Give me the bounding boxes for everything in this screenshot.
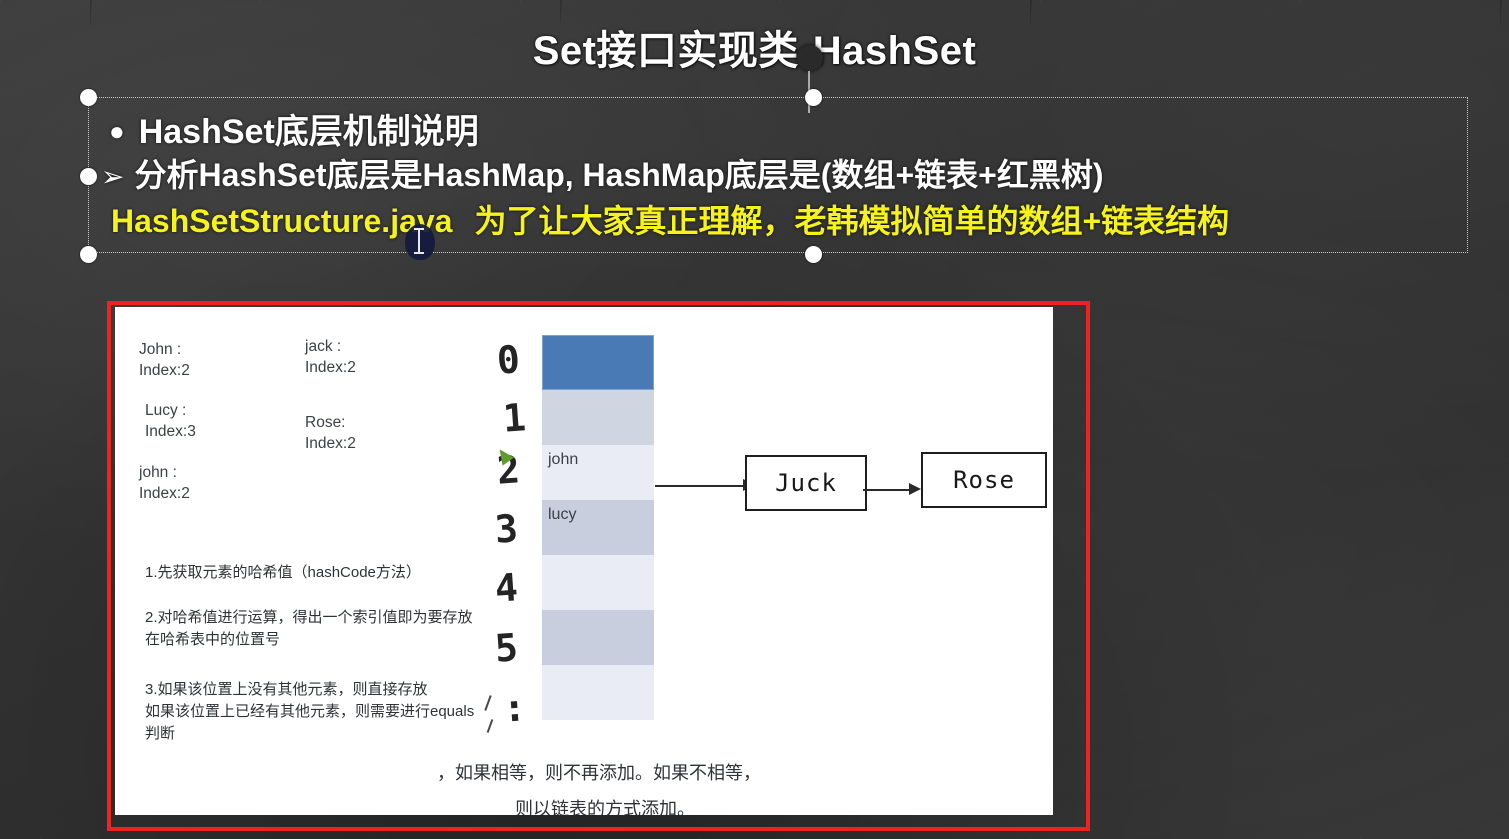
array-index-0: 0: [496, 340, 521, 380]
array-cell-1[interactable]: [542, 390, 654, 445]
entry-john-lower: john : Index:2: [139, 462, 190, 504]
array-cell-2[interactable]: john: [542, 445, 654, 500]
entry-lucy: Lucy : Index:3: [145, 400, 196, 442]
entry-rose-index: Index:2: [305, 433, 356, 454]
slide-textbox[interactable]: ●HashSet底层机制说明 ➢分析HashSet底层是HashMap, Has…: [88, 97, 1468, 253]
hash-table-array: john lucy: [542, 335, 654, 720]
connector-line-1: [655, 485, 745, 487]
entry-john-upper: John : Index:2: [139, 339, 190, 381]
entry-jack: jack : Index:2: [305, 336, 356, 378]
array-index-3: 3: [494, 509, 519, 549]
presentation-slide: Set接口实现类-HashSet ●HashSet底层机制说明 ➢分析HashS…: [0, 0, 1509, 839]
note-tail-1: ，如果相等，则不再添加。如果不相等，: [437, 759, 761, 785]
note-step-2: 2.对哈希值进行运算，得出一个索引值即为要存放在哈希表中的位置号: [145, 607, 480, 651]
pencil-tick-1: [484, 695, 491, 711]
bullet-dot-icon: ●: [109, 116, 125, 146]
resize-handle-top-left[interactable]: [80, 89, 97, 106]
entry-john-lower-name: john :: [139, 462, 190, 483]
entry-jack-name: jack :: [305, 336, 356, 357]
resize-handle-bottom-center[interactable]: [805, 246, 822, 263]
highlight-line-text: 为了让大家真正理解，老韩模拟简单的数组+链表结构: [474, 203, 1229, 239]
page-title: Set接口实现类-HashSet: [0, 18, 1509, 76]
text-cursor-icon: [418, 228, 420, 254]
hashset-structure-diagram[interactable]: John : Index:2 Lucy : Index:3 john : Ind…: [115, 307, 1053, 815]
note-tail-2: 则以链表的方式添加。: [515, 795, 695, 815]
pointer-marker-icon: [797, 45, 823, 71]
bullet-line-2: ➢分析HashSet底层是HashMap, HashMap底层是(数组+链表+红…: [101, 150, 1104, 196]
array-index-1: 1: [502, 398, 527, 438]
array-cell-4[interactable]: [542, 555, 654, 610]
connector-line-2: [863, 489, 915, 491]
resize-handle-middle-left[interactable]: [80, 168, 97, 185]
entry-rose: Rose: Index:2: [305, 412, 356, 454]
linked-node-rose-label: Rose: [953, 466, 1015, 494]
pencil-tick-2: [487, 719, 494, 733]
connector-arrow-2-icon: [909, 483, 921, 495]
linked-node-juck: Juck: [745, 455, 867, 511]
java-file-name: HashSetStructure.java: [111, 203, 452, 239]
linked-node-juck-label: Juck: [775, 469, 837, 497]
entry-john-upper-name: John :: [139, 339, 190, 360]
arrow-bullet-icon: ➢: [101, 161, 124, 192]
entry-lucy-name: Lucy :: [145, 400, 196, 421]
bullet-line-1: ●HashSet底层机制说明: [109, 104, 479, 153]
entry-lucy-index: Index:3: [145, 421, 196, 442]
array-index-more: :: [502, 688, 527, 728]
entry-jack-index: Index:2: [305, 357, 356, 378]
array-index-5: 5: [494, 628, 519, 668]
array-cell-3-value: lucy: [548, 506, 576, 524]
array-cell-0[interactable]: [542, 335, 654, 390]
entry-rose-name: Rose:: [305, 412, 356, 433]
resize-handle-top-center[interactable]: [805, 89, 822, 106]
linked-node-rose: Rose: [921, 452, 1047, 508]
entry-john-upper-index: Index:2: [139, 360, 190, 381]
note-step-3: 3.如果该位置上没有其他元素，则直接存放 如果该位置上已经有其他元素，则需要进行…: [145, 679, 480, 745]
array-cell-6[interactable]: [542, 665, 654, 720]
bullet-line-1-text: HashSet底层机制说明: [139, 113, 479, 151]
resize-handle-bottom-left[interactable]: [80, 246, 97, 263]
bullet-line-2-text: 分析HashSet底层是HashMap, HashMap底层是(数组+链表+红黑…: [134, 157, 1103, 193]
array-cell-2-value: john: [548, 451, 578, 469]
entry-john-lower-index: Index:2: [139, 483, 190, 504]
array-cell-3[interactable]: lucy: [542, 500, 654, 555]
array-cell-5[interactable]: [542, 610, 654, 665]
highlight-line: HashSetStructure.java为了让大家真正理解，老韩模拟简单的数组…: [111, 196, 1229, 242]
note-step-1: 1.先获取元素的哈希值（hashCode方法）: [145, 562, 480, 584]
array-index-4: 4: [494, 568, 519, 608]
